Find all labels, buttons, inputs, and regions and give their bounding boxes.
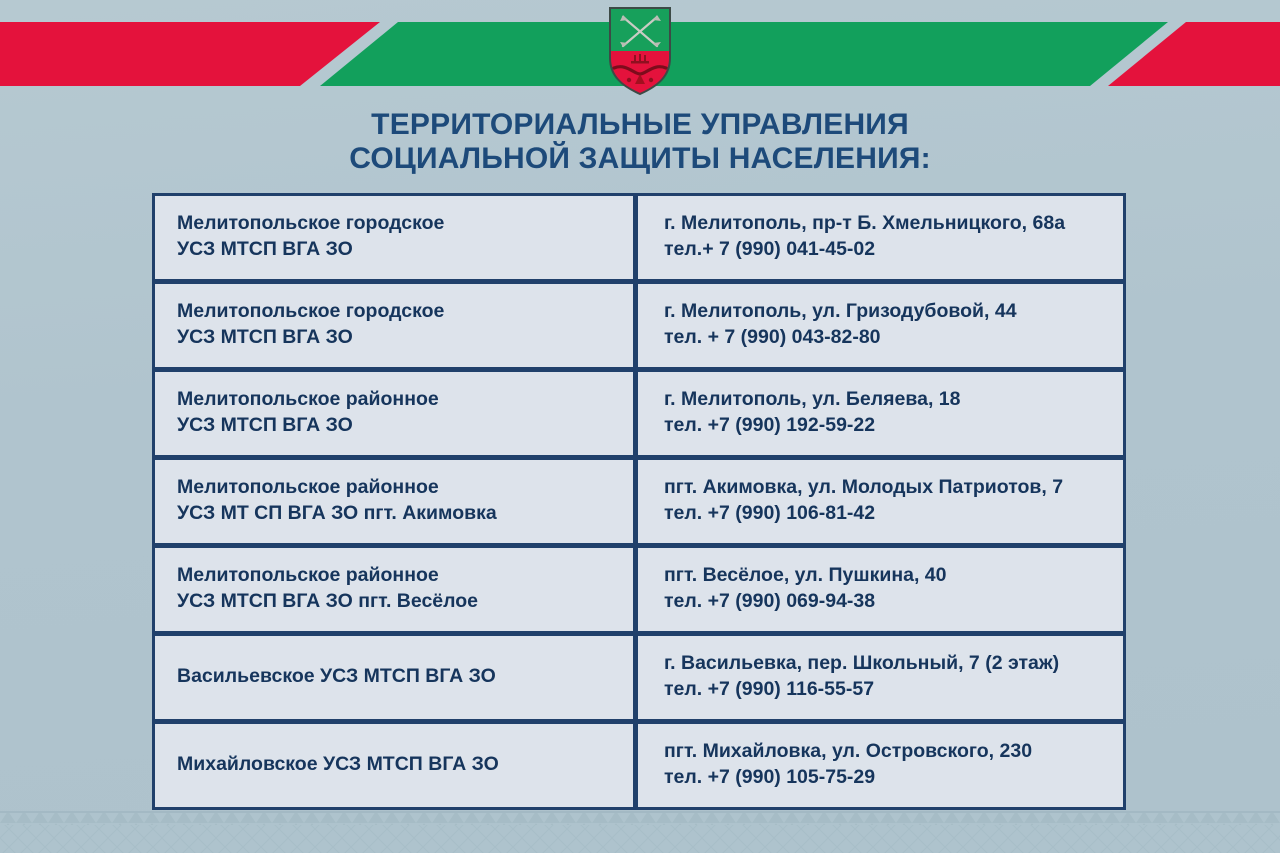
phone-line: тел. +7 (990) 106-81-42 bbox=[664, 501, 1123, 527]
cell-address: пгт. Акимовка, ул. Молодых Патриотов, 7 … bbox=[636, 458, 1126, 546]
table-row: Мелитопольское районное УСЗ МТСП ВГА ЗО … bbox=[152, 546, 1126, 634]
phone-line: тел. + 7 (990) 043-82-80 bbox=[664, 325, 1123, 351]
address-line: г. Мелитополь, ул. Гризодубовой, 44 bbox=[664, 299, 1123, 325]
phone-line: тел. +7 (990) 192-59-22 bbox=[664, 413, 1123, 439]
cell-organisation: Мелитопольское районное УСЗ МТСП ВГА ЗО bbox=[152, 370, 636, 458]
org-line-1: Васильевское УСЗ МТСП ВГА ЗО bbox=[177, 664, 633, 690]
table-row: Васильевское УСЗ МТСП ВГА ЗО г. Васильев… bbox=[152, 634, 1126, 722]
table-row: Михайловское УСЗ МТСП ВГА ЗО пгт. Михайл… bbox=[152, 722, 1126, 810]
table-row: Мелитопольское городское УСЗ МТСП ВГА ЗО… bbox=[152, 193, 1126, 282]
cell-address: г. Мелитополь, пр-т Б. Хмельницкого, 68а… bbox=[636, 193, 1126, 282]
cell-address: г. Мелитополь, ул. Гризодубовой, 44 тел.… bbox=[636, 282, 1126, 370]
cell-address: пгт. Весёлое, ул. Пушкина, 40 тел. +7 (9… bbox=[636, 546, 1126, 634]
phone-line: тел. +7 (990) 069-94-38 bbox=[664, 589, 1123, 615]
bottom-ornament bbox=[0, 811, 1280, 853]
banner-red-left bbox=[0, 22, 380, 86]
org-line-2: УСЗ МТСП ВГА ЗО bbox=[177, 237, 633, 263]
table-row: Мелитопольское городское УСЗ МТСП ВГА ЗО… bbox=[152, 282, 1126, 370]
org-line-1: Мелитопольское городское bbox=[177, 211, 633, 237]
org-line-2: УСЗ МТСП ВГА ЗО bbox=[177, 325, 633, 351]
phone-line: тел. +7 (990) 116-55-57 bbox=[664, 677, 1123, 703]
banner-green-center bbox=[320, 22, 1168, 86]
org-line-1: Мелитопольское районное bbox=[177, 563, 633, 589]
cell-organisation: Мелитопольское районное УСЗ МТСП ВГА ЗО … bbox=[152, 546, 636, 634]
address-line: г. Васильевка, пер. Школьный, 7 (2 этаж) bbox=[664, 651, 1123, 677]
poster-root: ТЕРРИТОРИАЛЬНЫЕ УПРАВЛЕНИЯ СОЦИАЛЬНОЙ ЗА… bbox=[0, 0, 1280, 853]
org-line-2: УСЗ МТСП ВГА ЗО bbox=[177, 413, 633, 439]
address-line: пгт. Акимовка, ул. Молодых Патриотов, 7 bbox=[664, 475, 1123, 501]
cell-organisation: Васильевское УСЗ МТСП ВГА ЗО bbox=[152, 634, 636, 722]
contacts-table: Мелитопольское городское УСЗ МТСП ВГА ЗО… bbox=[152, 193, 1126, 810]
address-line: г. Мелитополь, ул. Беляева, 18 bbox=[664, 387, 1123, 413]
cell-organisation: Мелитопольское городское УСЗ МТСП ВГА ЗО bbox=[152, 193, 636, 282]
address-line: пгт. Весёлое, ул. Пушкина, 40 bbox=[664, 563, 1123, 589]
page-title-line-2: СОЦИАЛЬНОЙ ЗАЩИТЫ НАСЕЛЕНИЯ: bbox=[0, 142, 1280, 176]
table-row: Мелитопольское районное УСЗ МТ СП ВГА ЗО… bbox=[152, 458, 1126, 546]
cell-address: пгт. Михайловка, ул. Островского, 230 те… bbox=[636, 722, 1126, 810]
org-line-1: Мелитопольское районное bbox=[177, 475, 633, 501]
org-line-1: Михайловское УСЗ МТСП ВГА ЗО bbox=[177, 752, 633, 778]
cell-address: г. Мелитополь, ул. Беляева, 18 тел. +7 (… bbox=[636, 370, 1126, 458]
cell-organisation: Михайловское УСЗ МТСП ВГА ЗО bbox=[152, 722, 636, 810]
phone-line: тел. +7 (990) 105-75-29 bbox=[664, 765, 1123, 791]
page-title: ТЕРРИТОРИАЛЬНЫЕ УПРАВЛЕНИЯ СОЦИАЛЬНОЙ ЗА… bbox=[0, 108, 1280, 176]
org-line-2: УСЗ МТ СП ВГА ЗО пгт. Акимовка bbox=[177, 501, 633, 527]
org-line-2: УСЗ МТСП ВГА ЗО пгт. Весёлое bbox=[177, 589, 633, 615]
table-row: Мелитопольское районное УСЗ МТСП ВГА ЗО … bbox=[152, 370, 1126, 458]
cell-address: г. Васильевка, пер. Школьный, 7 (2 этаж)… bbox=[636, 634, 1126, 722]
address-line: г. Мелитополь, пр-т Б. Хмельницкого, 68а bbox=[664, 211, 1123, 237]
contacts-table-body: Мелитопольское городское УСЗ МТСП ВГА ЗО… bbox=[152, 193, 1126, 810]
page-title-line-1: ТЕРРИТОРИАЛЬНЫЕ УПРАВЛЕНИЯ bbox=[0, 108, 1280, 142]
cell-organisation: Мелитопольское городское УСЗ МТСП ВГА ЗО bbox=[152, 282, 636, 370]
address-line: пгт. Михайловка, ул. Островского, 230 bbox=[664, 739, 1123, 765]
cell-organisation: Мелитопольское районное УСЗ МТ СП ВГА ЗО… bbox=[152, 458, 636, 546]
contacts-table-container: Мелитопольское городское УСЗ МТСП ВГА ЗО… bbox=[152, 193, 1126, 810]
melitopol-coat-of-arms-icon bbox=[604, 6, 676, 98]
phone-line: тел.+ 7 (990) 041-45-02 bbox=[664, 237, 1123, 263]
org-line-1: Мелитопольское городское bbox=[177, 299, 633, 325]
org-line-1: Мелитопольское районное bbox=[177, 387, 633, 413]
